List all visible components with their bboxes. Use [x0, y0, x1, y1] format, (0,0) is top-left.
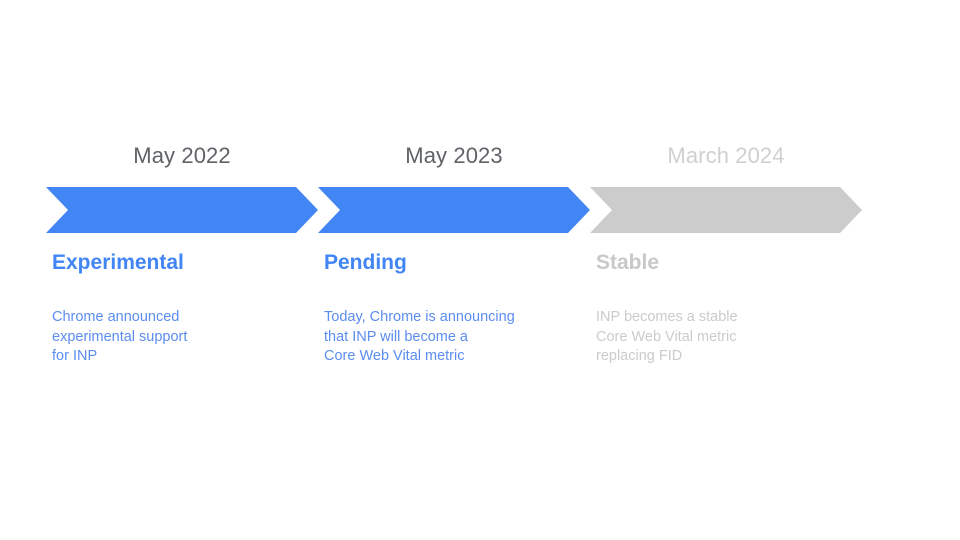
timeline-stage-experimental: Experimental Chrome announced experiment…	[52, 250, 314, 367]
timeline-stage-row: Experimental Chrome announced experiment…	[46, 250, 906, 400]
chevron-arrow-pending	[318, 187, 590, 233]
timeline-chevron-band	[46, 187, 906, 233]
timeline-date-label-3: March 2024	[590, 140, 862, 172]
timeline-date-row: May 2022 May 2023 March 2024	[46, 140, 906, 180]
timeline-date-label-1: May 2022	[46, 140, 318, 172]
chevron-arrow-stable	[590, 187, 862, 233]
timeline-stage-stable: Stable INP becomes a stable Core Web Vit…	[596, 250, 858, 367]
stage-title-experimental: Experimental	[52, 250, 314, 276]
timeline-date-label-2: May 2023	[318, 140, 590, 172]
stage-title-pending: Pending	[324, 250, 586, 276]
stage-description-pending: Today, Chrome is announcing that INP wil…	[324, 308, 586, 367]
stage-description-experimental: Chrome announced experimental support fo…	[52, 308, 314, 367]
stage-title-stable: Stable	[596, 250, 858, 276]
timeline-stage-pending: Pending Today, Chrome is announcing that…	[324, 250, 586, 367]
stage-description-stable: INP becomes a stable Core Web Vital metr…	[596, 308, 858, 367]
chevron-arrow-experimental	[46, 187, 318, 233]
inp-timeline-diagram: May 2022 May 2023 March 2024 Experimenta…	[46, 140, 906, 400]
